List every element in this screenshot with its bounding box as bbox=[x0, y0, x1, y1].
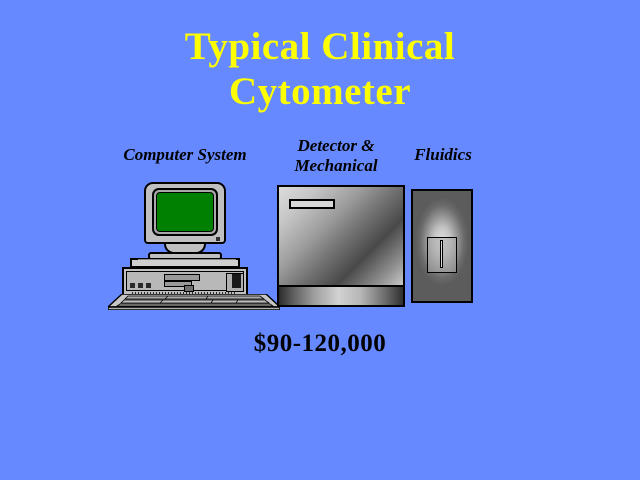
computer-system-graphic bbox=[108, 182, 288, 310]
floppy-drive-slot-icon bbox=[164, 274, 200, 281]
drive-eject-button-icon bbox=[184, 285, 194, 292]
fluidics-tube-icon bbox=[440, 240, 443, 268]
fluidics-unit-graphic bbox=[411, 189, 473, 303]
detector-base-plinth-icon bbox=[279, 285, 403, 305]
monitor-screen-icon bbox=[156, 192, 214, 232]
keyboard-icon bbox=[108, 294, 280, 310]
label-computer-system: Computer System bbox=[100, 145, 270, 165]
title-line-1: Typical Clinical bbox=[0, 24, 640, 69]
title-line-2: Cytometer bbox=[0, 69, 640, 114]
case-button-2-icon bbox=[138, 283, 143, 288]
monitor-power-led-icon bbox=[216, 237, 220, 241]
presentation-slide: Typical Clinical Cytometer Computer Syst… bbox=[0, 0, 640, 480]
case-button-3-icon bbox=[146, 283, 151, 288]
case-button-1-icon bbox=[130, 283, 135, 288]
detector-mechanical-unit-graphic bbox=[277, 185, 405, 307]
slide-title: Typical Clinical Cytometer bbox=[0, 24, 640, 114]
detector-front-slot-icon bbox=[289, 199, 335, 209]
drive-bay-opening-icon bbox=[232, 274, 241, 288]
label-detector-mechanical: Detector & Mechanical bbox=[282, 136, 390, 176]
label-detector-line-1: Detector & bbox=[298, 136, 375, 155]
price-caption: $90-120,000 bbox=[0, 330, 640, 358]
label-fluidics: Fluidics bbox=[400, 145, 486, 165]
label-detector-line-2: Mechanical bbox=[294, 156, 377, 175]
